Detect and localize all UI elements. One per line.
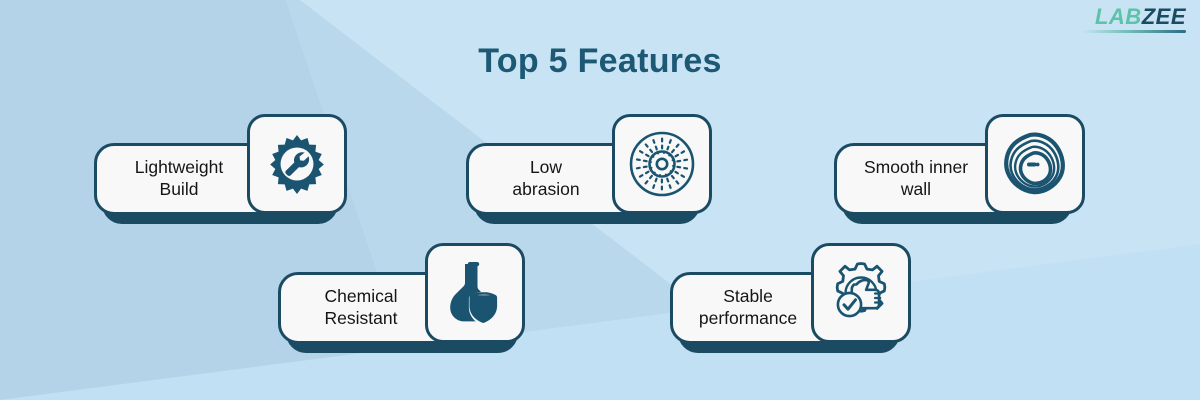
- feature-icon-tile: [811, 243, 911, 343]
- brand-logo[interactable]: LABZEE: [1082, 6, 1186, 33]
- flask-shield-icon: [441, 259, 509, 327]
- feature-card-stable-performance[interactable]: Stable performance: [670, 272, 892, 344]
- brand-logo-lab: LAB: [1095, 4, 1142, 29]
- feature-icon-tile: [612, 114, 712, 214]
- feature-card-lightweight-build[interactable]: Lightweight Build: [94, 143, 330, 215]
- feature-card-chemical-resistant[interactable]: Chemical Resistant: [278, 272, 510, 344]
- brand-logo-underline: [1082, 30, 1186, 33]
- feature-icon-tile: [247, 114, 347, 214]
- page-title: Top 5 Features: [0, 42, 1200, 81]
- abrasion-disc-icon: [626, 128, 698, 200]
- contour-blob-icon: [1000, 131, 1070, 197]
- gear-wrench-icon: [266, 133, 328, 195]
- brand-logo-text: LABZEE: [1095, 6, 1186, 28]
- gear-thumbsup-check-icon: [826, 258, 896, 328]
- brand-logo-zee: ZEE: [1142, 4, 1186, 29]
- feature-icon-tile: [425, 243, 525, 343]
- feature-card-low-abrasion[interactable]: Low abrasion: [466, 143, 692, 215]
- infographic-canvas: LABZEE Top 5 Features Lightweight Build …: [0, 0, 1200, 400]
- feature-icon-tile: [985, 114, 1085, 214]
- feature-card-smooth-inner-wall[interactable]: Smooth inner wall: [834, 143, 1064, 215]
